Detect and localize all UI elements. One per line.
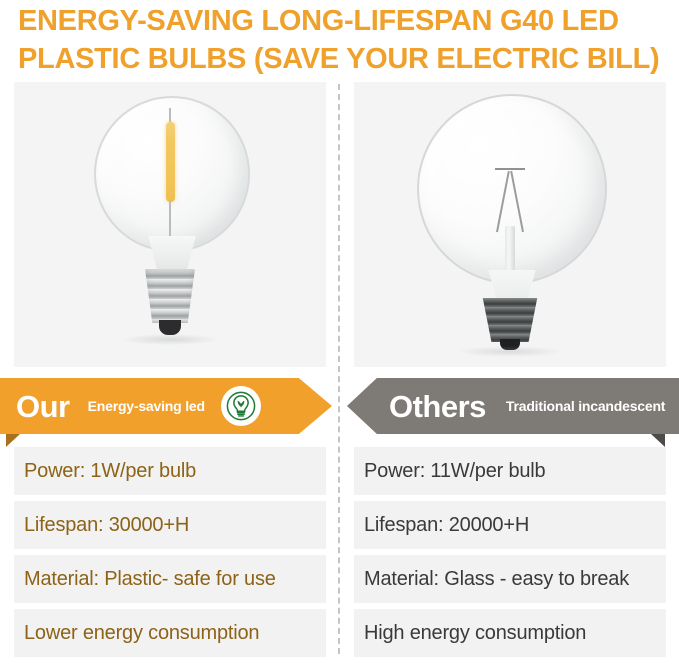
led-filament: [166, 122, 175, 202]
others-banner-subtitle: Traditional incandescent: [506, 398, 665, 414]
our-banner-title: Our: [16, 391, 70, 422]
spec-row: Power: 11W/per bulb: [354, 447, 666, 495]
spec-row: Material: Plastic- safe for use: [14, 555, 326, 603]
our-spec-column: Power: 1W/per bulb Lifespan: 30000+H Mat…: [14, 447, 326, 663]
led-bulb-photo-panel: [14, 82, 326, 367]
others-banner-shadow-tab: [651, 434, 665, 447]
page-title-line-1: ENERGY-SAVING LONG-LIFESPAN G40 LED: [18, 2, 663, 40]
led-screw-base: [144, 269, 196, 323]
our-banner-subtitle: Energy-saving led: [88, 398, 205, 414]
others-spec-column: Power: 11W/per bulb Lifespan: 20000+H Ma…: [354, 447, 666, 663]
eco-bulb-leaf-icon: [221, 386, 261, 426]
our-banner: Our Energy-saving led: [0, 378, 332, 434]
led-bulb-shadow: [122, 334, 218, 345]
others-banner: Others Traditional incandescent: [347, 378, 679, 434]
incandescent-bulb-photo-panel: [354, 82, 666, 367]
spec-row: Power: 1W/per bulb: [14, 447, 326, 495]
comparison-banner-row: Our Energy-saving led Others Traditional…: [0, 378, 679, 436]
spec-row: Lower energy consumption: [14, 609, 326, 657]
incandescent-screw-base: [481, 298, 539, 342]
our-banner-shadow-tab: [6, 434, 20, 447]
others-banner-title: Others: [389, 391, 486, 422]
led-bulb-illustration: [14, 82, 326, 367]
spec-row: Lifespan: 20000+H: [354, 501, 666, 549]
incandescent-bulb-shadow: [458, 346, 562, 357]
page-title: ENERGY-SAVING LONG-LIFESPAN G40 LED PLAS…: [0, 0, 679, 80]
page-title-line-2: PLASTIC BULBS (SAVE YOUR ELECTRIC BILL): [18, 40, 663, 78]
led-filament-lead-bottom: [169, 201, 171, 241]
spec-row: Material: Glass - easy to break: [354, 555, 666, 603]
product-comparison-infographic: ENERGY-SAVING LONG-LIFESPAN G40 LED PLAS…: [0, 0, 679, 664]
led-base-contact-tip: [159, 320, 181, 335]
spec-row: Lifespan: 30000+H: [14, 501, 326, 549]
comparison-spec-table: Power: 1W/per bulb Lifespan: 30000+H Mat…: [0, 447, 679, 664]
incandescent-bulb-illustration: [354, 82, 666, 367]
incandescent-filament-bar: [495, 168, 525, 170]
spec-row: High energy consumption: [354, 609, 666, 657]
